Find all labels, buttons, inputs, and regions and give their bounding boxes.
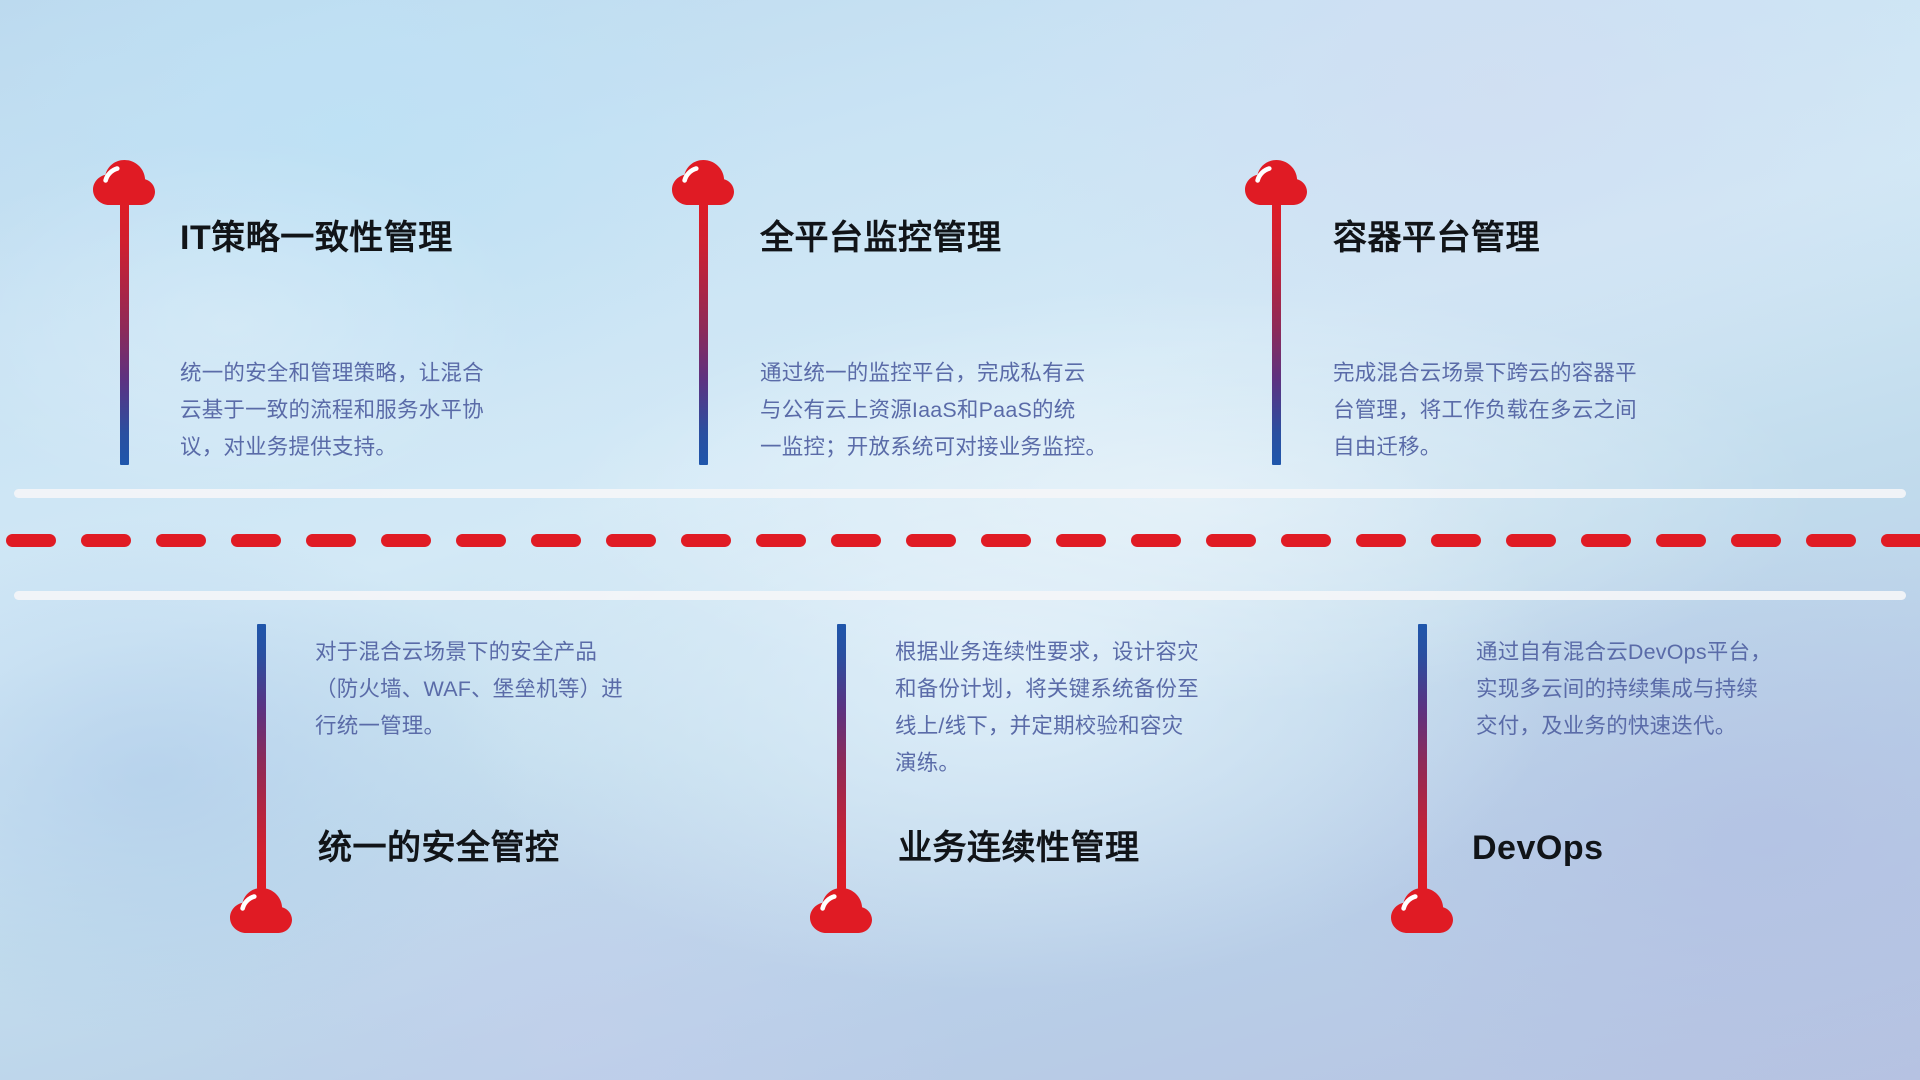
- section-divider: [0, 489, 1920, 601]
- divider-rule-bottom: [14, 591, 1906, 600]
- divider-dash: [1131, 534, 1181, 547]
- divider-dash: [1731, 534, 1781, 547]
- card-heading: 业务连续性管理: [898, 830, 1140, 867]
- card-body: 根据业务连续性要求，设计容灾 和备份计划，将关键系统备份至 线上/线下，并定期校…: [895, 634, 1325, 782]
- divider-dash: [1881, 534, 1920, 547]
- card-heading: 全平台监控管理: [760, 220, 1002, 257]
- card-heading: DevOps: [1472, 830, 1604, 867]
- divider-dash: [81, 534, 131, 547]
- divider-dash: [156, 534, 206, 547]
- divider-dash: [1356, 534, 1406, 547]
- card-body: 完成混合云场景下跨云的容器平 台管理，将工作负载在多云之间 自由迁移。: [1333, 355, 1763, 466]
- divider-dash: [1506, 534, 1556, 547]
- card-heading: IT策略一致性管理: [180, 220, 453, 257]
- divider-dash: [981, 534, 1031, 547]
- divider-dash: [831, 534, 881, 547]
- cloud-icon: [1391, 888, 1453, 934]
- cloud-icon: [230, 888, 292, 934]
- card-heading: 容器平台管理: [1333, 220, 1540, 257]
- divider-dash: [1806, 534, 1856, 547]
- divider-dash: [231, 534, 281, 547]
- timeline-stem: [837, 624, 846, 889]
- cloud-icon: [810, 888, 872, 934]
- divider-dash: [381, 534, 431, 547]
- divider-dash: [531, 534, 581, 547]
- divider-dash: [1431, 534, 1481, 547]
- divider-rule-top: [14, 489, 1906, 498]
- card-body: 对于混合云场景下的安全产品 （防火墙、WAF、堡垒机等）进 行统一管理。: [315, 634, 745, 745]
- divider-dash: [756, 534, 806, 547]
- divider-dash: [1656, 534, 1706, 547]
- divider-dash: [306, 534, 356, 547]
- divider-dash: [456, 534, 506, 547]
- divider-dashed-line: [0, 533, 1920, 547]
- timeline-stem: [1272, 200, 1281, 465]
- divider-dash: [1281, 534, 1331, 547]
- timeline-stem: [699, 200, 708, 465]
- divider-dash: [1206, 534, 1256, 547]
- card-body: 通过自有混合云DevOps平台， 实现多云间的持续集成与持续 交付，及业务的快速…: [1476, 634, 1906, 745]
- divider-dash: [606, 534, 656, 547]
- timeline-stem: [1418, 624, 1427, 889]
- divider-dash: [906, 534, 956, 547]
- card-body: 通过统一的监控平台，完成私有云 与公有云上资源IaaS和PaaS的统 一监控；开…: [760, 355, 1220, 466]
- timeline-stem: [120, 200, 129, 465]
- card-body: 统一的安全和管理策略，让混合 云基于一致的流程和服务水平协 议，对业务提供支持。: [180, 355, 610, 466]
- divider-dash: [1056, 534, 1106, 547]
- divider-dash: [1581, 534, 1631, 547]
- divider-dash: [6, 534, 56, 547]
- card-heading: 统一的安全管控: [318, 830, 560, 867]
- infographic-stage: IT策略一致性管理 统一的安全和管理策略，让混合 云基于一致的流程和服务水平协 …: [0, 0, 1920, 1080]
- divider-dash: [681, 534, 731, 547]
- timeline-stem: [257, 624, 266, 889]
